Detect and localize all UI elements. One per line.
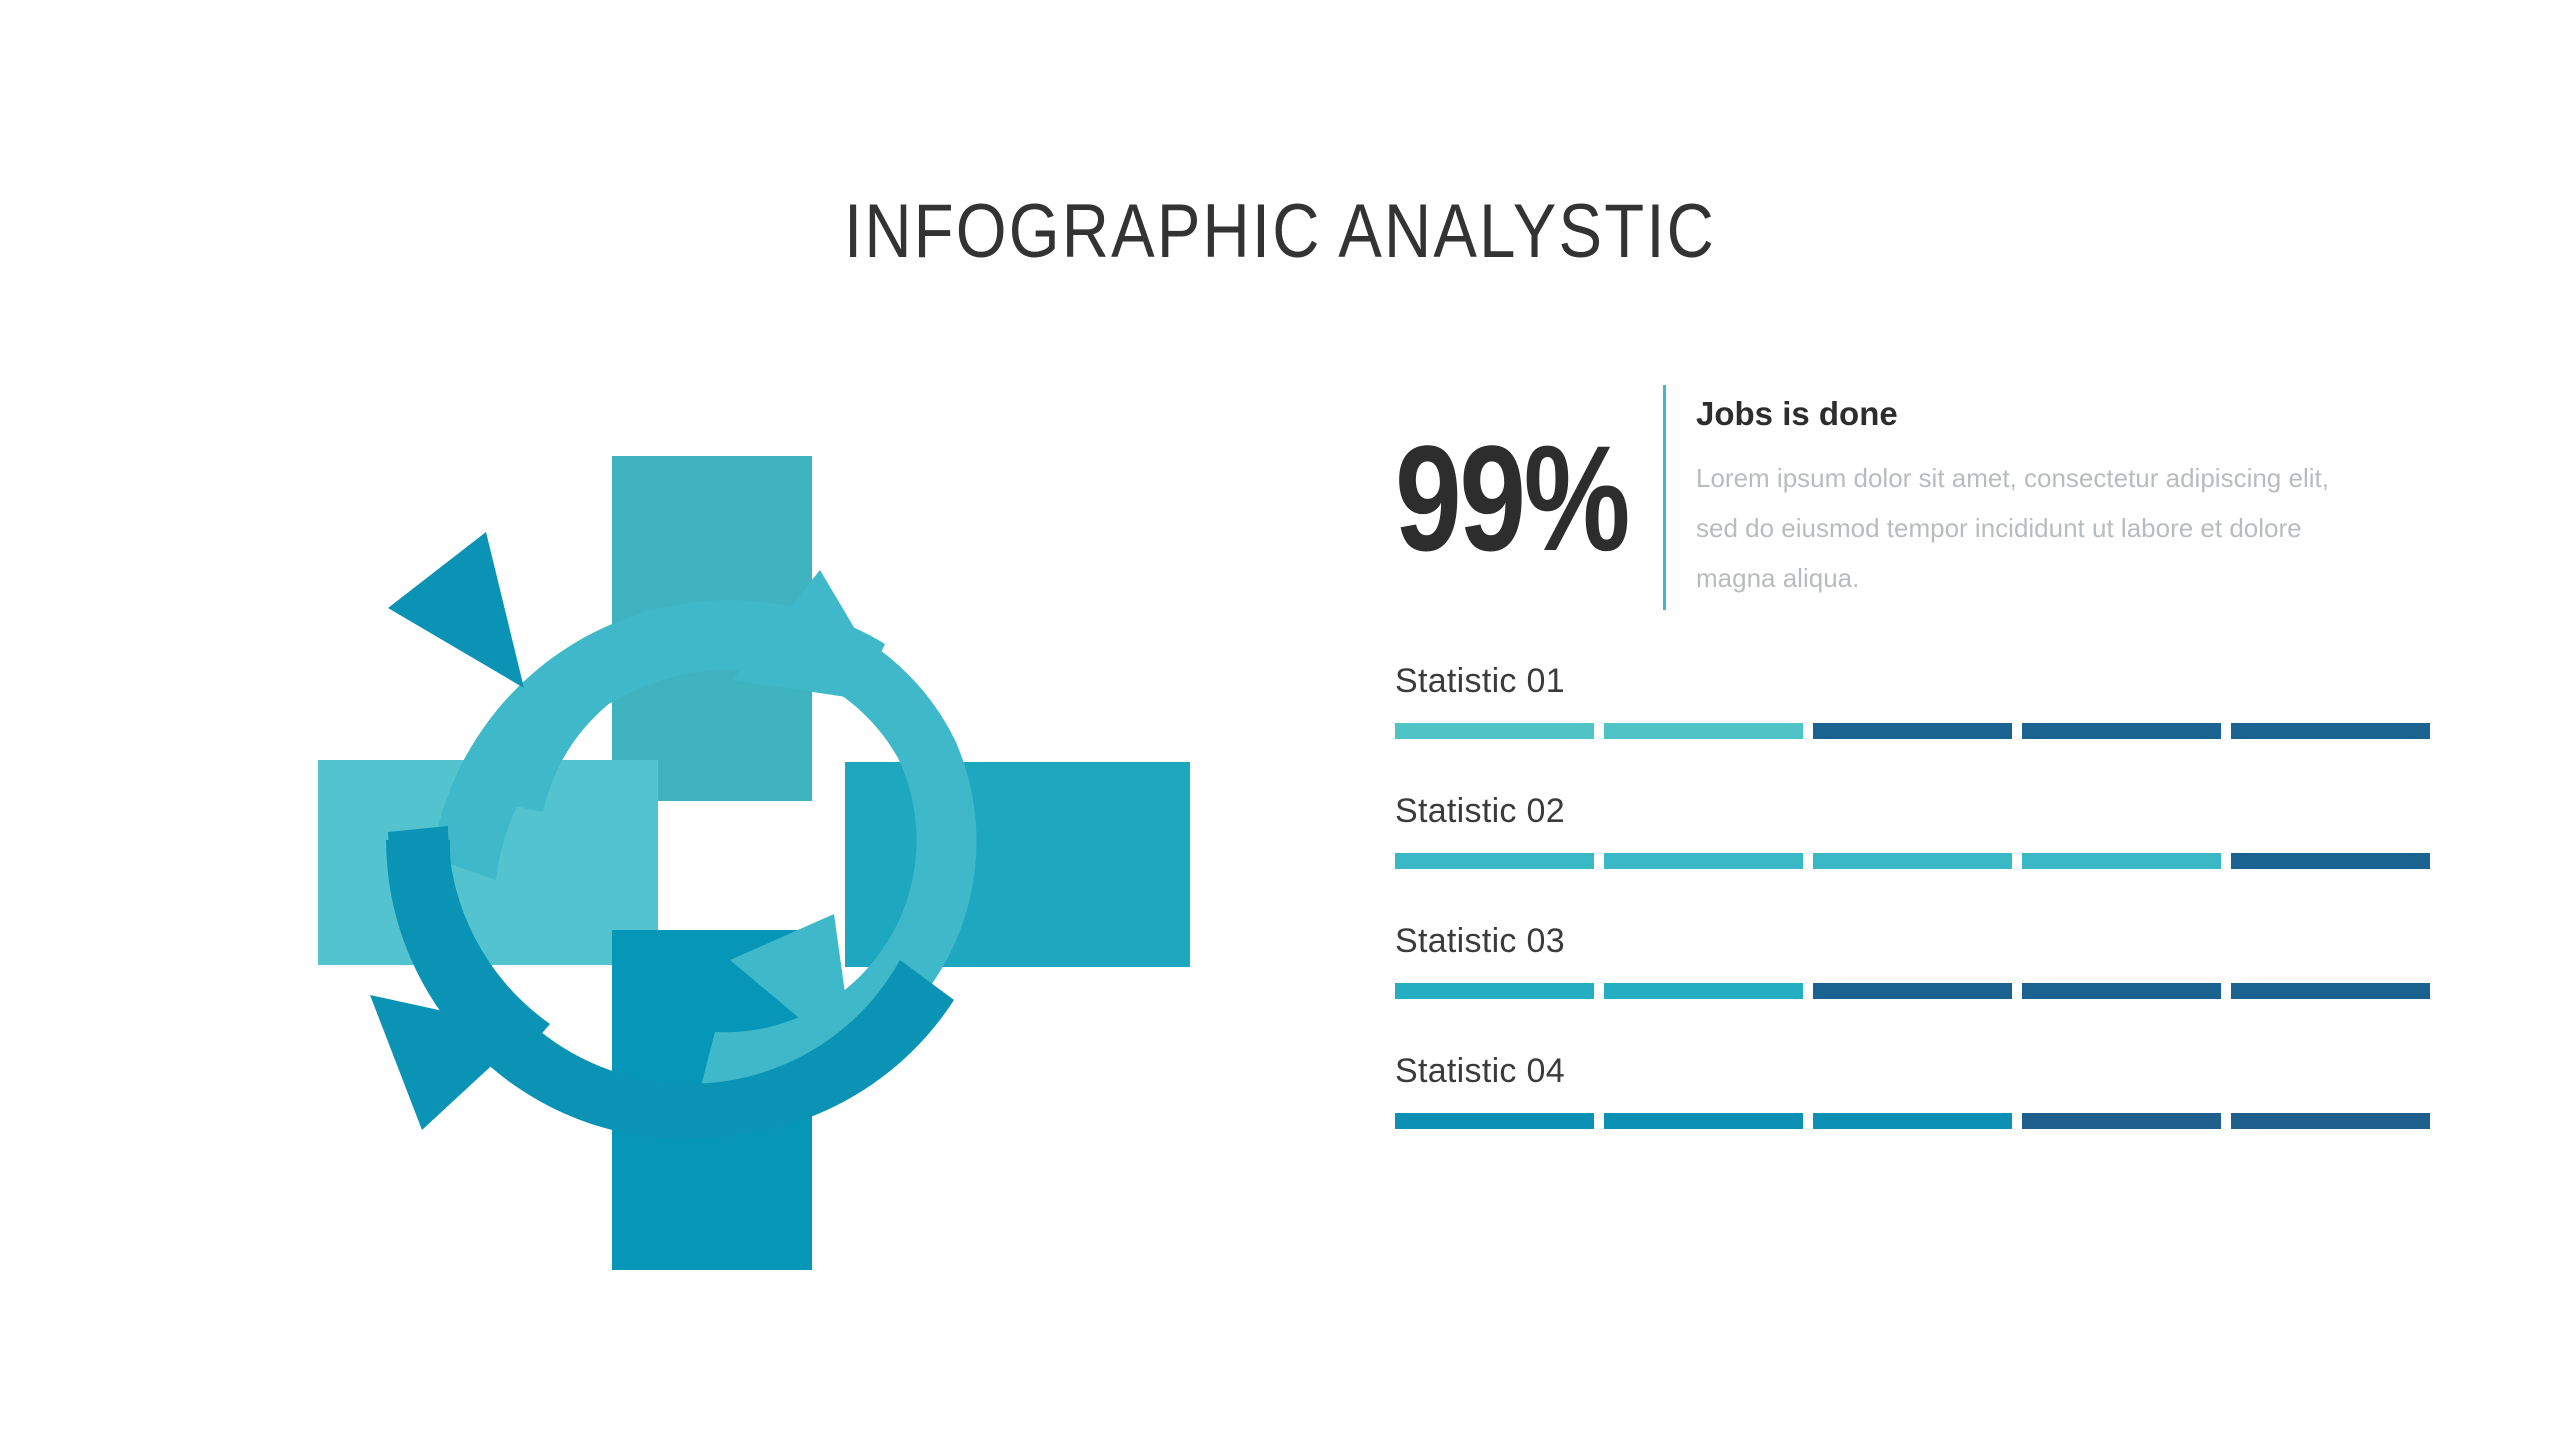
kpi-heading: Jobs is done — [1696, 395, 2455, 433]
right-panel: 99% Jobs is done Lorem ipsum dolor sit a… — [1395, 385, 2455, 1182]
stat-bar — [1395, 853, 2430, 869]
stat-segment — [1604, 1113, 1803, 1129]
stat-segment — [1813, 1113, 2012, 1129]
stat-row: Statistic 04 — [1395, 1052, 2455, 1129]
stat-label: Statistic 03 — [1395, 922, 2455, 961]
stat-segment — [1395, 1113, 1594, 1129]
kpi-divider — [1663, 385, 1666, 610]
stat-segment — [1604, 723, 1803, 739]
arrowhead-nw — [388, 532, 524, 688]
page-title: INFOGRAPHIC ANALYSTIC — [179, 188, 2381, 275]
stat-segment — [1395, 723, 1594, 739]
stat-label: Statistic 02 — [1395, 792, 2455, 831]
stat-segment — [1813, 983, 2012, 999]
stat-row: Statistic 02 — [1395, 792, 2455, 869]
stat-segment — [2231, 1113, 2430, 1129]
cross-cycle-graphic — [300, 440, 1220, 1270]
stat-segment — [2022, 983, 2221, 999]
stat-segment — [1813, 723, 2012, 739]
stat-segment — [1395, 853, 1594, 869]
stat-segment — [2231, 723, 2430, 739]
kpi-text-group: Jobs is done Lorem ipsum dolor sit amet,… — [1696, 385, 2455, 610]
stat-bar — [1395, 983, 2430, 999]
stat-row: Statistic 03 — [1395, 922, 2455, 999]
kpi-block: 99% Jobs is done Lorem ipsum dolor sit a… — [1395, 385, 2455, 610]
stat-row: Statistic 01 — [1395, 662, 2455, 739]
statistics-list: Statistic 01 Statistic 02 Statistic 03 — [1395, 662, 2455, 1129]
stat-segment — [1813, 853, 2012, 869]
stat-segment — [1395, 983, 1594, 999]
stat-segment — [1604, 853, 1803, 869]
stat-label: Statistic 01 — [1395, 662, 2455, 701]
kpi-body: Lorem ipsum dolor sit amet, consectetur … — [1696, 453, 2376, 603]
stat-segment — [2231, 853, 2430, 869]
stat-segment — [2022, 853, 2221, 869]
stat-bar — [1395, 1113, 2430, 1129]
stat-bar — [1395, 723, 2430, 739]
stat-segment — [2231, 983, 2430, 999]
stat-segment — [2022, 1113, 2221, 1129]
stat-label: Statistic 04 — [1395, 1052, 2455, 1091]
stat-segment — [2022, 723, 2221, 739]
kpi-value: 99% — [1395, 385, 1635, 610]
stat-segment — [1604, 983, 1803, 999]
